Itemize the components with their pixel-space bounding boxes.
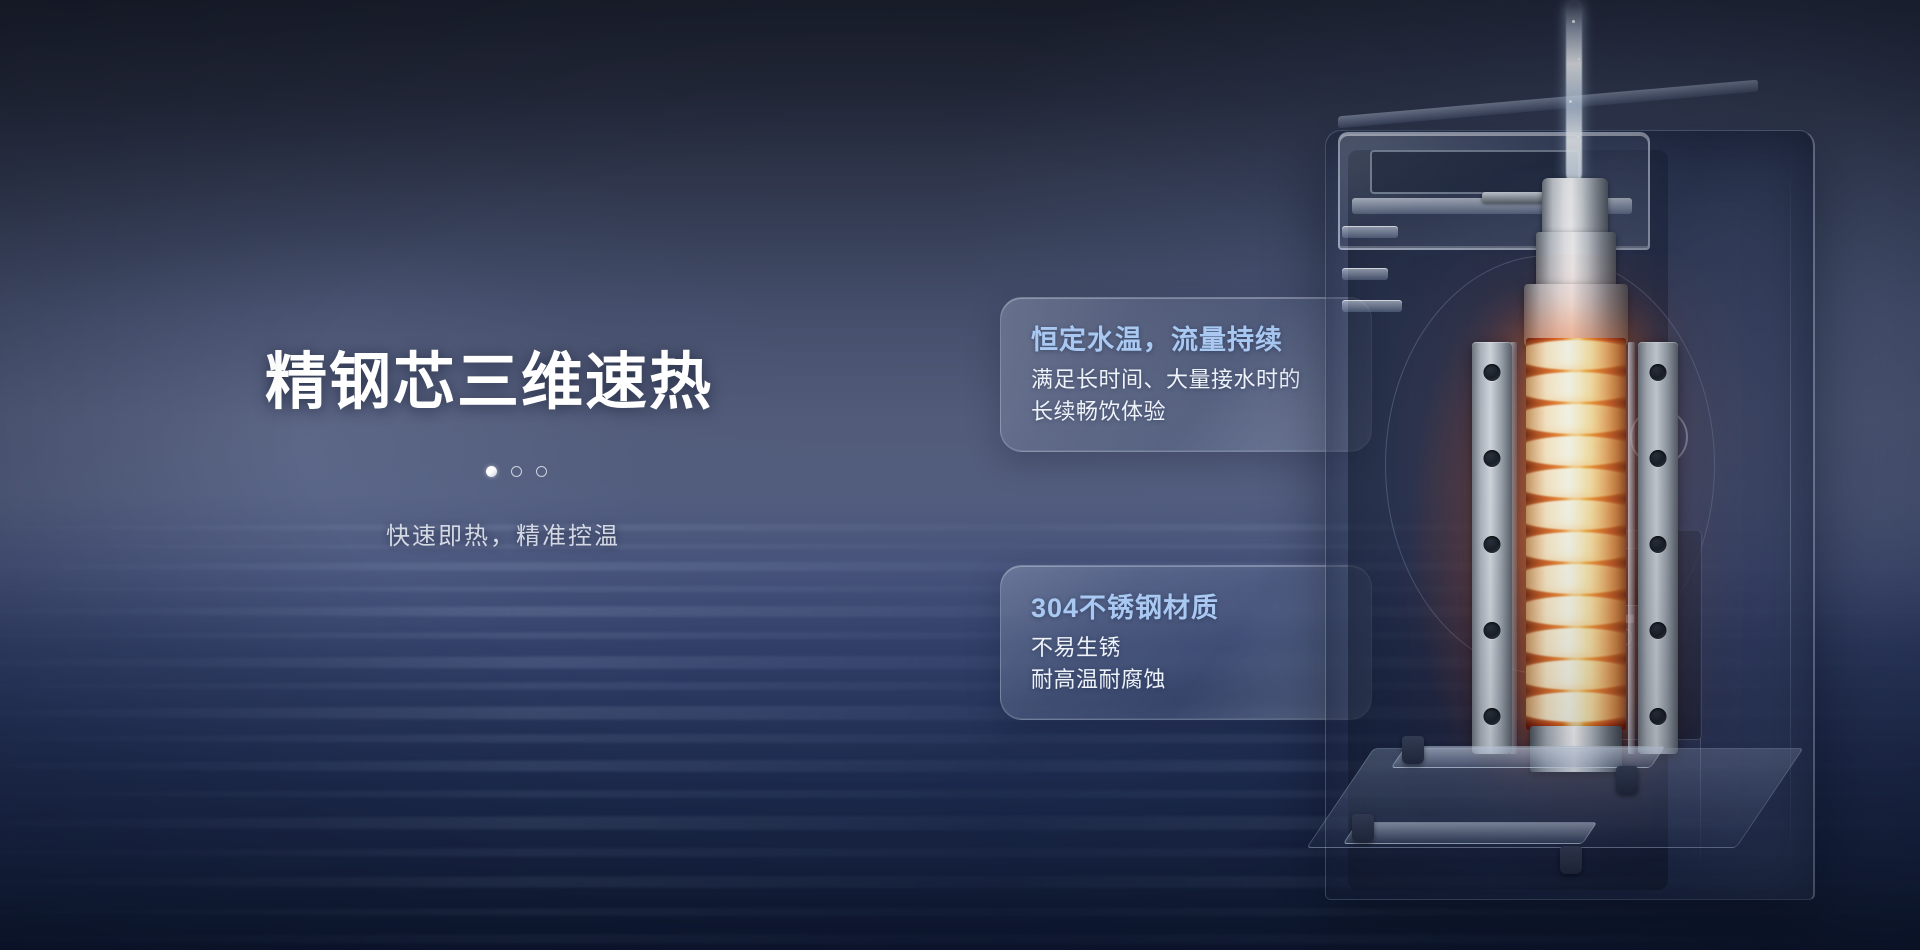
heater-collar-lower bbox=[1524, 284, 1628, 346]
carousel-pagination[interactable] bbox=[486, 466, 547, 477]
carousel-dot-1[interactable] bbox=[486, 466, 497, 477]
product-tab bbox=[1342, 226, 1398, 238]
water-jet bbox=[1566, 2, 1582, 184]
product-foot bbox=[1560, 846, 1582, 874]
heater-glowing-tube bbox=[1526, 338, 1626, 730]
product-base-rail bbox=[1343, 822, 1598, 844]
product-tab bbox=[1342, 268, 1388, 280]
heater-top-cap bbox=[1542, 178, 1608, 234]
heater-clamp-plate-right bbox=[1638, 342, 1678, 754]
product-foot bbox=[1352, 814, 1374, 842]
product-heating-core bbox=[1480, 170, 1690, 810]
carousel-dot-3[interactable] bbox=[536, 466, 547, 477]
product-tab bbox=[1342, 300, 1402, 312]
heater-inlet-nozzle bbox=[1482, 192, 1544, 203]
product-base-rail bbox=[1391, 746, 1666, 768]
product-foot bbox=[1616, 766, 1638, 794]
banner-stage: 精钢芯三维速热 快速即热，精准控温 恒定水温，流量持续 满足长时间、大量接水时的… bbox=[0, 0, 1920, 950]
product-top-shelf bbox=[1338, 80, 1758, 129]
product-foot bbox=[1402, 736, 1424, 764]
heater-plate-edge bbox=[1628, 342, 1635, 754]
heater-clamp-plate-left bbox=[1472, 342, 1512, 754]
heater-collar-upper bbox=[1536, 232, 1616, 288]
page-title: 精钢芯三维速热 bbox=[265, 352, 713, 414]
page-subtitle: 快速即热，精准控温 bbox=[386, 516, 620, 551]
product-edge-hairline bbox=[1790, 140, 1791, 880]
product-illustration: ██ ███ ████ bbox=[1230, 0, 1920, 950]
carousel-dot-2[interactable] bbox=[511, 466, 522, 477]
